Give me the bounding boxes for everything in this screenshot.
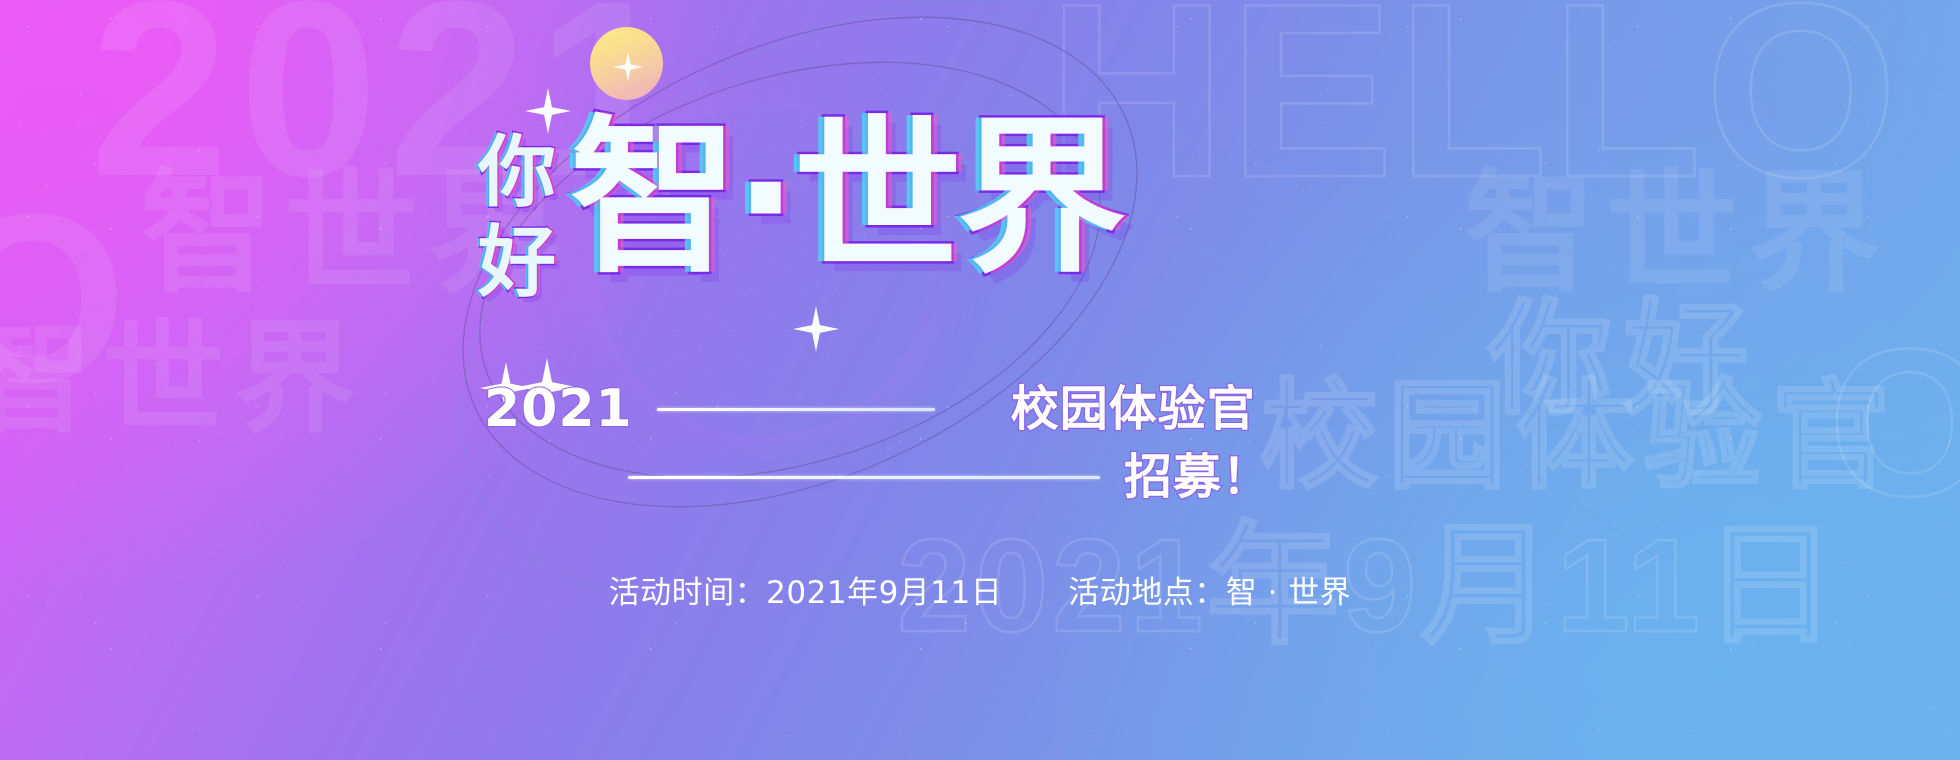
title-char-ni: 你 [478,134,556,212]
title-char-hao: 好 [478,224,556,302]
watermark-o-right: O [1828,318,1960,528]
subtitle-year: 2021 [484,383,633,435]
watermark-role-bottom: 校园体验官 [1260,378,1900,496]
subtitle-row-2: 招募！ [484,446,1271,508]
watermark-nihao-right: 你好 [1488,298,1760,422]
event-time: 活动时间：2021年9月11日 [609,567,1003,612]
subtitle-rule-1 [657,408,935,411]
violet-glow [1360,0,1960,440]
main-title: 你 好 智·世界 [470,120,1110,320]
subtitle-action: 招募！ [1124,453,1271,501]
moon-circle [590,27,663,100]
subtitle-row-1: 2021 校园体验官 [484,378,1256,440]
title-main-word: 智·世界 [570,114,1122,282]
subtitle-rule-2 [628,476,1100,479]
watermark-o-left: O [0,178,136,418]
watermark-zhi-left-2: 智世界 [0,318,366,440]
event-info-bar: 活动时间：2021年9月11日 活动地点：智 · 世界 [0,567,1960,612]
promo-banner: 2021 O 智世界 智世界 HELLO 智世界 你好 O 校园体验官 2021… [0,0,1960,760]
watermark-hello-right: HELLO [1047,0,1900,214]
event-place: 活动地点：智 · 世界 [1068,567,1351,612]
subtitle-role: 校园体验官 [1011,385,1256,433]
watermark-zhi-right: 智世界 [1464,168,1890,300]
blue-glow [1060,120,1960,760]
